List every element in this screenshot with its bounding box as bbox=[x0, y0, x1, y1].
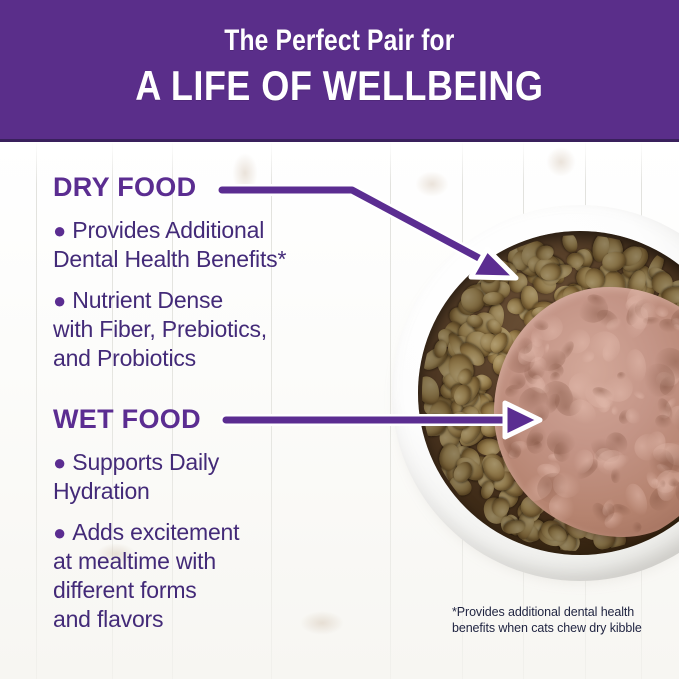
bullet-text-line: with Fiber, Prebiotics, bbox=[53, 316, 267, 342]
wet-food-bullet-2: ● Adds excitement at mealtime with diffe… bbox=[53, 518, 239, 634]
header-banner: The Perfect Pair for A LIFE OF WELLBEING bbox=[0, 0, 679, 141]
bullet-text-line: different forms bbox=[53, 577, 197, 603]
bullet-dot-icon: ● bbox=[53, 288, 66, 313]
wet-food-pate bbox=[494, 287, 679, 537]
infographic-page: The Perfect Pair for A LIFE OF WELLBEING… bbox=[0, 0, 679, 679]
bullet-text-line: Nutrient Dense bbox=[72, 287, 223, 313]
bullet-text-line: Dental Health Benefits* bbox=[53, 246, 286, 272]
bullet-dot-icon: ● bbox=[53, 520, 66, 545]
kibble-piece bbox=[482, 292, 504, 306]
footnote-line1: *Provides additional dental health bbox=[452, 604, 667, 620]
pate-texture bbox=[630, 520, 644, 534]
bullet-dot-icon: ● bbox=[53, 450, 66, 475]
header-title-line2: A LIFE OF WELLBEING bbox=[135, 62, 543, 110]
pate-texture bbox=[610, 406, 619, 416]
footnote: *Provides additional dental health benef… bbox=[452, 604, 667, 636]
pate-texture bbox=[499, 423, 526, 459]
header-bottom-rule bbox=[0, 139, 679, 142]
dry-food-bullet-1: ● Provides Additional Dental Health Bene… bbox=[53, 216, 286, 274]
bullet-text-line: Supports Daily bbox=[72, 449, 219, 475]
bullet-text-line: at mealtime with bbox=[53, 548, 216, 574]
footnote-line2: benefits when cats chew dry kibble bbox=[452, 620, 667, 636]
cat-food-bowl-image bbox=[392, 205, 679, 581]
dry-food-heading: DRY FOOD bbox=[53, 172, 286, 202]
callout-dry-food: DRY FOOD ● Provides Additional Dental He… bbox=[53, 172, 286, 373]
header-title-line1: The Perfect Pair for bbox=[224, 24, 454, 58]
bullet-text-line: Hydration bbox=[53, 478, 150, 504]
dry-food-bullet-2: ● Nutrient Dense with Fiber, Prebiotics,… bbox=[53, 286, 286, 373]
bullet-text-line: and Probiotics bbox=[53, 345, 196, 371]
bullet-text-line: Adds excitement bbox=[72, 519, 239, 545]
callout-wet-food: WET FOOD ● Supports Daily Hydration ● Ad… bbox=[53, 404, 239, 634]
bullet-dot-icon: ● bbox=[53, 218, 66, 243]
bullet-text-line: and flavors bbox=[53, 606, 163, 632]
wet-food-heading: WET FOOD bbox=[53, 404, 239, 434]
bullet-text-line: Provides Additional bbox=[72, 217, 264, 243]
pate-texture bbox=[632, 388, 646, 400]
wet-food-bullet-1: ● Supports Daily Hydration bbox=[53, 448, 239, 506]
